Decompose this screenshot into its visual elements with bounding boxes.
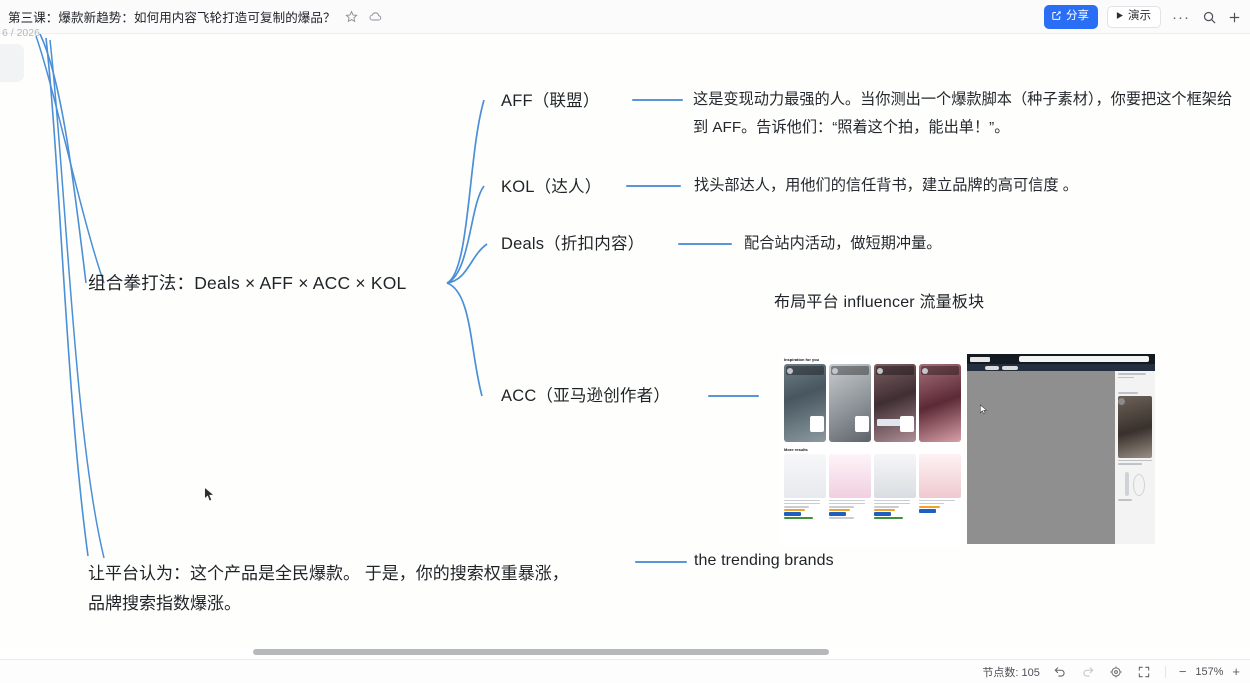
document-title[interactable]: 第三课：爆款新趋势：如何用内容飞轮打造可复制的爆品？ bbox=[8, 7, 336, 26]
embedded-cursor-icon bbox=[978, 404, 989, 415]
product-tile bbox=[874, 454, 916, 519]
mindmap-bottom-note-line2: 品牌搜索指数爆涨。 bbox=[88, 589, 569, 619]
more-options-button[interactable]: ··· bbox=[1170, 10, 1192, 25]
play-icon bbox=[1115, 11, 1124, 24]
mindmap-leaf-kol-detail[interactable]: 找头部达人，用他们的信任背书，建立品牌的高可信度 。 bbox=[694, 172, 1078, 200]
mindmap-leaf-aff-detail[interactable]: 这是变现动力最强的人。当你测出一个爆款脚本（种子素材），你要把这个框架给到 AF… bbox=[693, 86, 1233, 142]
undo-icon[interactable] bbox=[1053, 664, 1068, 679]
product-tile bbox=[784, 454, 826, 519]
horizontal-scrollbar[interactable] bbox=[253, 649, 829, 655]
zoom-out-button[interactable]: − bbox=[1179, 665, 1187, 678]
share-external-icon bbox=[1051, 10, 1062, 25]
screenshot-heading-inspiration: Inspiration for you bbox=[781, 354, 963, 364]
fullscreen-icon[interactable] bbox=[1137, 664, 1152, 679]
star-icon[interactable] bbox=[344, 9, 360, 25]
present-button[interactable]: 演示 bbox=[1107, 6, 1161, 29]
top-bar-actions: 分享 演示 ··· bbox=[1044, 0, 1242, 34]
mindmap-bottom-note-line1: 让平台认为：这个产品是全民爆款。 于是，你的搜索权重暴涨， bbox=[88, 559, 569, 589]
search-icon[interactable] bbox=[1201, 9, 1217, 25]
mindmap-branch-acc[interactable]: ACC（亚马逊创作者） bbox=[501, 382, 670, 406]
product-tile bbox=[829, 454, 871, 519]
mindmap-leaf-deals-detail[interactable]: 配合站内活动，做短期冲量。 bbox=[744, 230, 941, 258]
top-bar: 第三课：爆款新趋势：如何用内容飞轮打造可复制的爆品？ bbox=[0, 0, 1250, 34]
mindmap-canvas[interactable]: 组合拳打法：Deals × AFF × ACC × KOL AFF（联盟） 这是… bbox=[0, 34, 1250, 649]
zoom-control: − 157% + bbox=[1179, 665, 1240, 678]
video-thumb bbox=[874, 364, 916, 442]
video-thumb bbox=[784, 364, 826, 442]
status-divider bbox=[1165, 666, 1166, 678]
share-button-label: 分享 bbox=[1066, 11, 1089, 23]
cloud-sync-icon[interactable] bbox=[368, 9, 384, 25]
share-button[interactable]: 分享 bbox=[1044, 5, 1098, 30]
mindmap-bottom-note[interactable]: 让平台认为：这个产品是全民爆款。 于是，你的搜索权重暴涨， 品牌搜索指数爆涨。 bbox=[88, 559, 569, 619]
screenshot-product-grid bbox=[781, 454, 963, 519]
redo-icon[interactable] bbox=[1081, 664, 1096, 679]
screenshot-video-row bbox=[781, 364, 963, 442]
plus-icon[interactable] bbox=[1226, 9, 1242, 25]
mindmap-leaf-trending-brands[interactable]: the trending brands bbox=[694, 552, 834, 570]
mindmap-branch-kol[interactable]: KOL（达人） bbox=[501, 173, 601, 197]
amazon-shop-screenshot bbox=[967, 354, 1155, 544]
status-bar: 节点数: 105 − 157% + bbox=[0, 659, 1250, 683]
video-thumb bbox=[829, 364, 871, 442]
date-breadcrumb: 6 / 2026 bbox=[0, 27, 40, 39]
mindmap-branch-deals[interactable]: Deals（折扣内容） bbox=[501, 230, 644, 254]
zoom-in-button[interactable]: + bbox=[1232, 665, 1240, 678]
screenshot-heading-more-results: More results bbox=[781, 442, 963, 454]
mouse-cursor-icon bbox=[203, 486, 216, 504]
app-window: 第三课：爆款新趋势：如何用内容飞轮打造可复制的爆品？ bbox=[0, 0, 1250, 683]
video-thumb bbox=[919, 364, 961, 442]
locate-center-icon[interactable] bbox=[1109, 664, 1124, 679]
left-panel-handle[interactable] bbox=[0, 44, 24, 82]
product-tile bbox=[919, 454, 961, 519]
present-button-label: 演示 bbox=[1128, 11, 1151, 23]
attachment-amazon-inspiration[interactable]: Inspiration for you More results bbox=[781, 354, 963, 546]
top-bar-left: 第三课：爆款新趋势：如何用内容飞轮打造可复制的爆品？ bbox=[0, 7, 384, 26]
mindmap-root-node[interactable]: 组合拳打法：Deals × AFF × ACC × KOL bbox=[88, 270, 406, 295]
mindmap-leaf-acc-caption[interactable]: 布局平台 influencer 流量板块 bbox=[774, 288, 984, 312]
attachment-amazon-shop-by-interest[interactable] bbox=[967, 354, 1155, 544]
amazon-inspiration-screenshot: Inspiration for you More results bbox=[781, 354, 963, 546]
mindmap-branch-aff[interactable]: AFF（联盟） bbox=[501, 87, 600, 111]
node-count-label: 节点数: 105 bbox=[982, 664, 1039, 680]
zoom-level-label[interactable]: 157% bbox=[1192, 666, 1226, 678]
